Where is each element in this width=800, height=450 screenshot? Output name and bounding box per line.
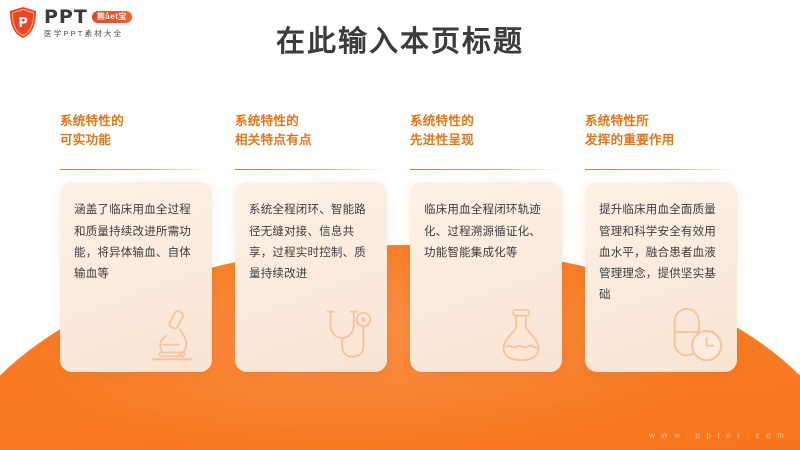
stethoscope-icon <box>315 304 377 366</box>
slide-canvas: P PPT 熊ået宝 医学PPT素材大全 在此输入本页标题 系统特性的 可实功… <box>0 0 800 450</box>
column-3: 系统特性的 先进性呈现 临床用血全程闭环轨迹化、过程溯源循证化、功能智能集成化等 <box>410 112 585 372</box>
card-body-text: 系统全程闭环、智能路径无缝对接、信息共享，过程实时控制、质量持续改进 <box>235 182 387 285</box>
microscope-icon <box>140 304 202 366</box>
content-columns: 系统特性的 可实功能 涵盖了临床用血全过程和质量持续改进所需功能，将异体输血、自… <box>60 112 760 372</box>
column-2: 系统特性的 相关特点有点 系统全程闭环、智能路径无缝对接、信息共享，过程实时控制… <box>235 112 410 372</box>
heading-divider <box>235 169 385 171</box>
page-title: 在此输入本页标题 <box>0 18 800 60</box>
card-body-text: 提升临床用血全面质量管理和科学安全有效用血水平，融合患者血液管理理念，提供坚实基… <box>585 182 737 306</box>
info-card[interactable]: 临床用血全程闭环轨迹化、过程溯源循证化、功能智能集成化等 <box>410 182 562 372</box>
info-card[interactable]: 涵盖了临床用血全过程和质量持续改进所需功能，将异体输血、自体输血等 <box>60 182 212 372</box>
column-heading: 系统特性的 先进性呈现 <box>410 112 585 151</box>
heading-divider <box>410 169 560 171</box>
column-heading: 系统特性的 可实功能 <box>60 112 235 151</box>
card-body-text: 临床用血全程闭环轨迹化、过程溯源循证化、功能智能集成化等 <box>410 182 562 264</box>
info-card[interactable]: 提升临床用血全面质量管理和科学安全有效用血水平，融合患者血液管理理念，提供坚实基… <box>585 182 737 372</box>
footer-watermark: w w w . p p t e r . c o m <box>649 431 786 440</box>
column-heading: 系统特性的 相关特点有点 <box>235 112 410 151</box>
flask-icon <box>490 304 552 366</box>
card-body-text: 涵盖了临床用血全过程和质量持续改进所需功能，将异体输血、自体输血等 <box>60 182 212 285</box>
heading-divider <box>585 169 735 171</box>
column-4: 系统特性所 发挥的重要作用 提升临床用血全面质量管理和科学安全有效用血水平，融合… <box>585 112 760 372</box>
heading-divider <box>60 169 210 171</box>
info-card[interactable]: 系统全程闭环、智能路径无缝对接、信息共享，过程实时控制、质量持续改进 <box>235 182 387 372</box>
column-heading: 系统特性所 发挥的重要作用 <box>585 112 760 151</box>
column-1: 系统特性的 可实功能 涵盖了临床用血全过程和质量持续改进所需功能，将异体输血、自… <box>60 112 235 372</box>
pill-clock-icon <box>665 304 727 366</box>
